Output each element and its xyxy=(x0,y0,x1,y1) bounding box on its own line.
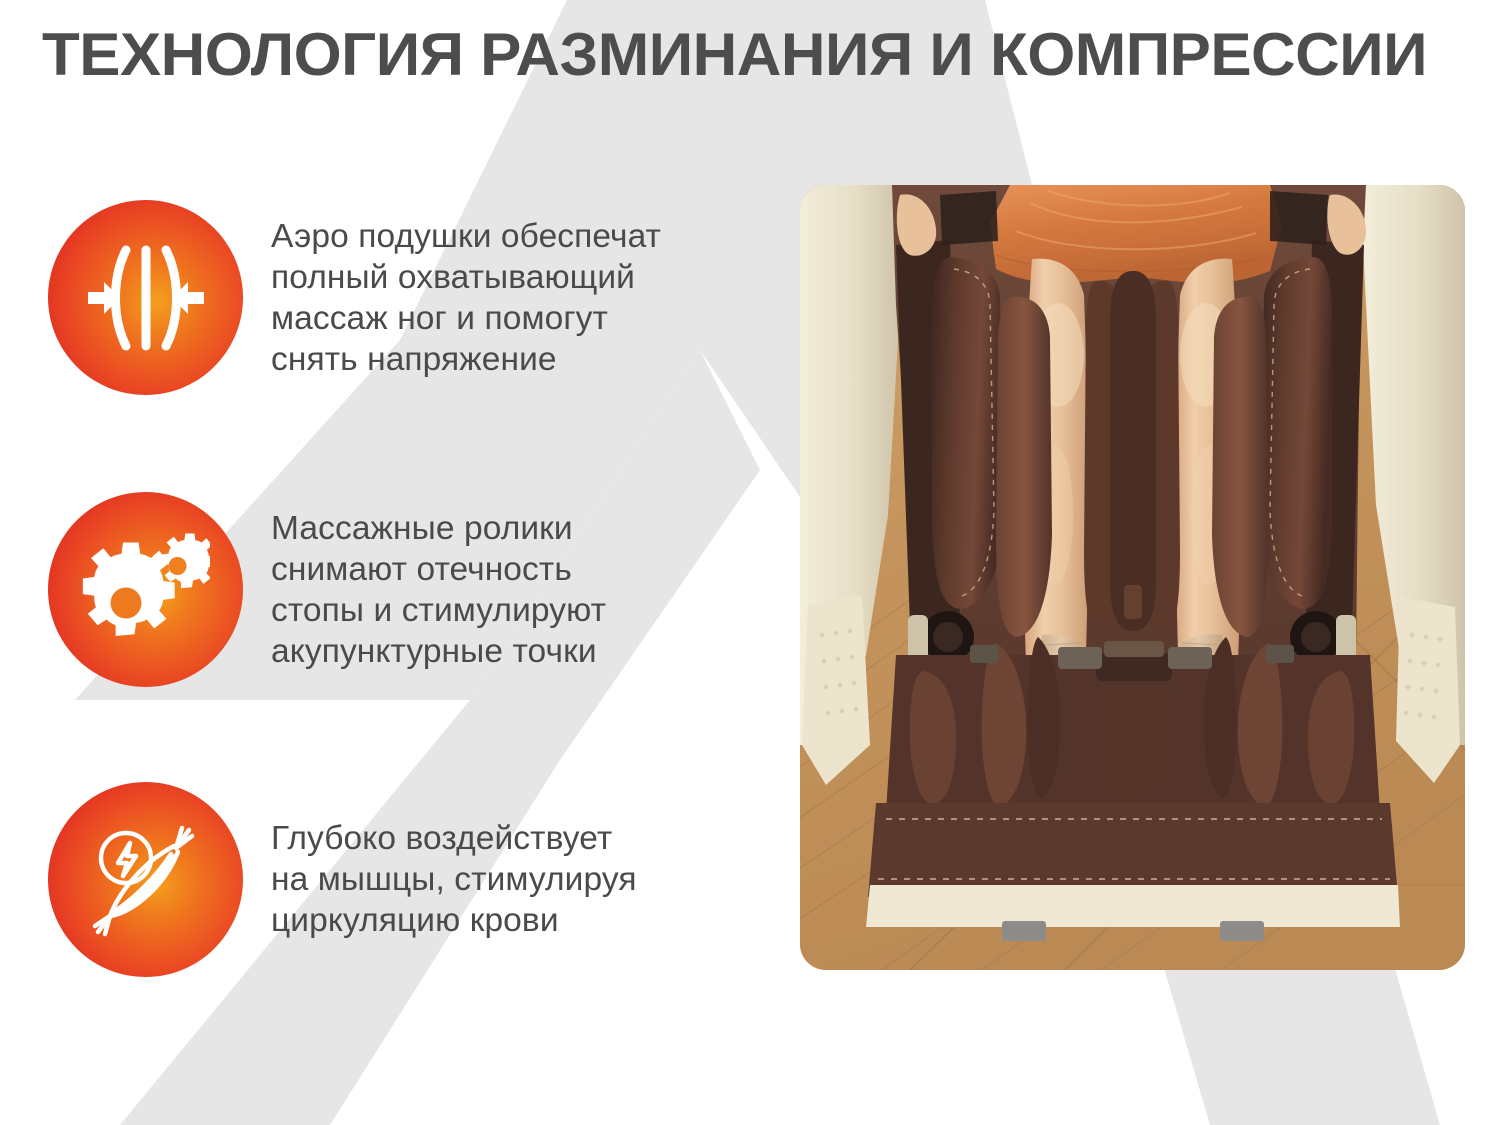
feature-item-compression: Аэро подушки обеспечат полный охватывающ… xyxy=(48,200,661,395)
feature-text: Глубоко воздействует на мышцы, стимулиру… xyxy=(271,818,637,941)
infographic-canvas: ТЕХНОЛОГИЯ РАЗМИНАНИЯ И КОМПРЕССИИ xyxy=(0,0,1500,1125)
feature-item-deep-muscle: Глубоко воздействует на мышцы, стимулиру… xyxy=(48,782,637,977)
feature-list: Аэро подушки обеспечат полный охватывающ… xyxy=(0,0,790,1125)
feature-text: Массажные ролики снимают отечность стопы… xyxy=(271,508,606,672)
compression-arrows-icon xyxy=(48,200,243,395)
page-title: ТЕХНОЛОГИЯ РАЗМИНАНИЯ И КОМПРЕССИИ xyxy=(42,22,1500,88)
feature-item-rollers: Массажные ролики снимают отечность стопы… xyxy=(48,492,606,687)
gears-icon xyxy=(48,492,243,687)
feature-text: Аэро подушки обеспечат полный охватывающ… xyxy=(271,216,661,380)
muscle-energy-icon xyxy=(48,782,243,977)
massage-chair-legrest-photo xyxy=(800,185,1465,970)
